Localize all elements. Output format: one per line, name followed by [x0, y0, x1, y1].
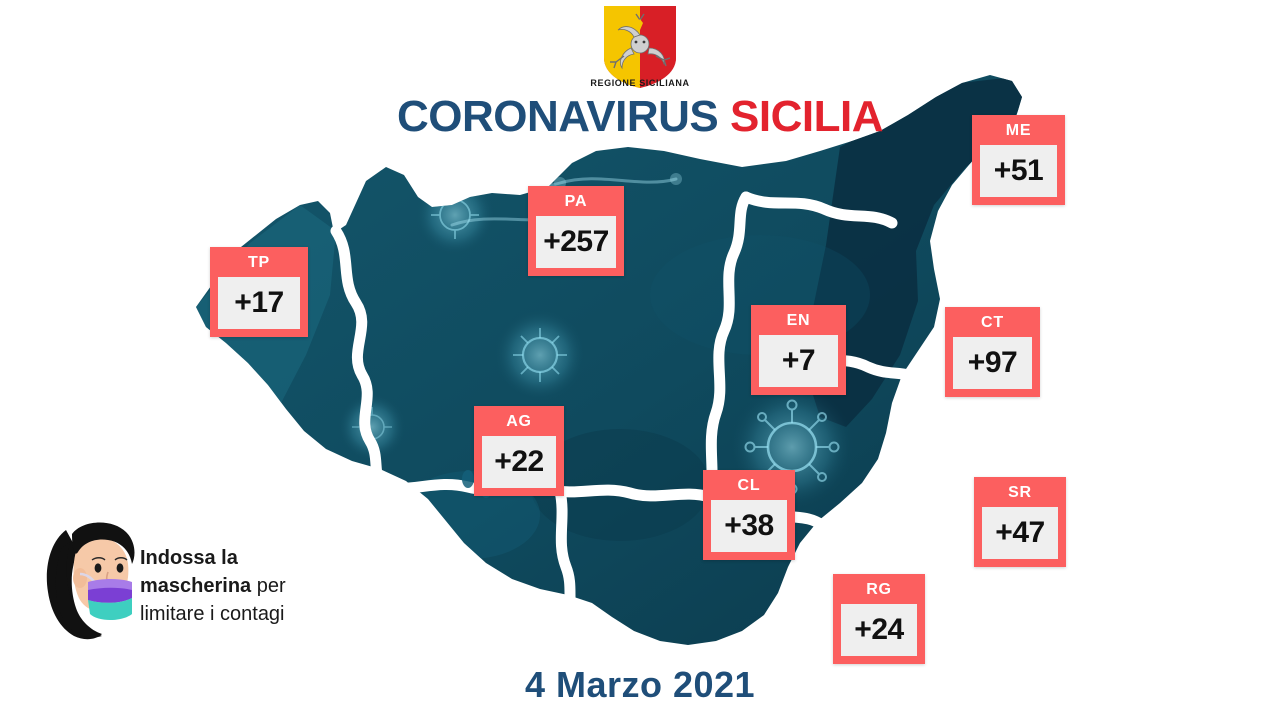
callout-cl: CL+38	[703, 470, 795, 560]
callout-value: +257	[536, 216, 616, 268]
slogan-line2-bold: mascherina	[140, 575, 251, 597]
mask-slogan: Indossa la mascherina per limitare i con…	[140, 544, 380, 628]
callout-code: SR	[982, 483, 1058, 503]
callout-ag: AG+22	[474, 406, 564, 496]
slogan-line1: Indossa la	[140, 547, 238, 569]
title-sicilia: SICILIA	[730, 92, 883, 141]
page-title: CORONAVIRUS SICILIA	[0, 92, 1280, 142]
callout-value: +47	[982, 507, 1058, 559]
callout-code: CT	[953, 313, 1032, 333]
callout-value: +24	[841, 604, 917, 656]
callout-value: +22	[482, 436, 556, 488]
slogan-line3: limitare i contagi	[140, 603, 285, 625]
callout-code: ME	[980, 121, 1057, 141]
infographic-canvas: REGIONE SICILIANA CORONAVIRUS SICILIA TP…	[0, 0, 1280, 720]
title-coronavirus: CORONAVIRUS	[397, 92, 718, 141]
report-date: 4 Marzo 2021	[0, 664, 1280, 706]
callout-me: ME+51	[972, 115, 1065, 205]
callout-en: EN+7	[751, 305, 846, 395]
callout-value: +38	[711, 500, 787, 552]
callout-code: RG	[841, 580, 917, 600]
woman-wearing-mask-illustration	[36, 512, 156, 642]
callout-value: +97	[953, 337, 1032, 389]
callout-value: +51	[980, 145, 1057, 197]
callout-code: TP	[218, 253, 300, 273]
callout-pa: PA+257	[528, 186, 624, 276]
callout-code: EN	[759, 311, 838, 331]
callout-code: PA	[536, 192, 616, 212]
callout-ct: CT+97	[945, 307, 1040, 397]
slogan-line2-rest: per	[251, 575, 285, 597]
callout-code: AG	[482, 412, 556, 432]
callout-sr: SR+47	[974, 477, 1066, 567]
callout-value: +7	[759, 335, 838, 387]
crest-caption: REGIONE SICILIANA	[560, 78, 720, 88]
callout-value: +17	[218, 277, 300, 329]
callout-rg: RG+24	[833, 574, 925, 664]
callout-code: CL	[711, 476, 787, 496]
callout-tp: TP+17	[210, 247, 308, 337]
